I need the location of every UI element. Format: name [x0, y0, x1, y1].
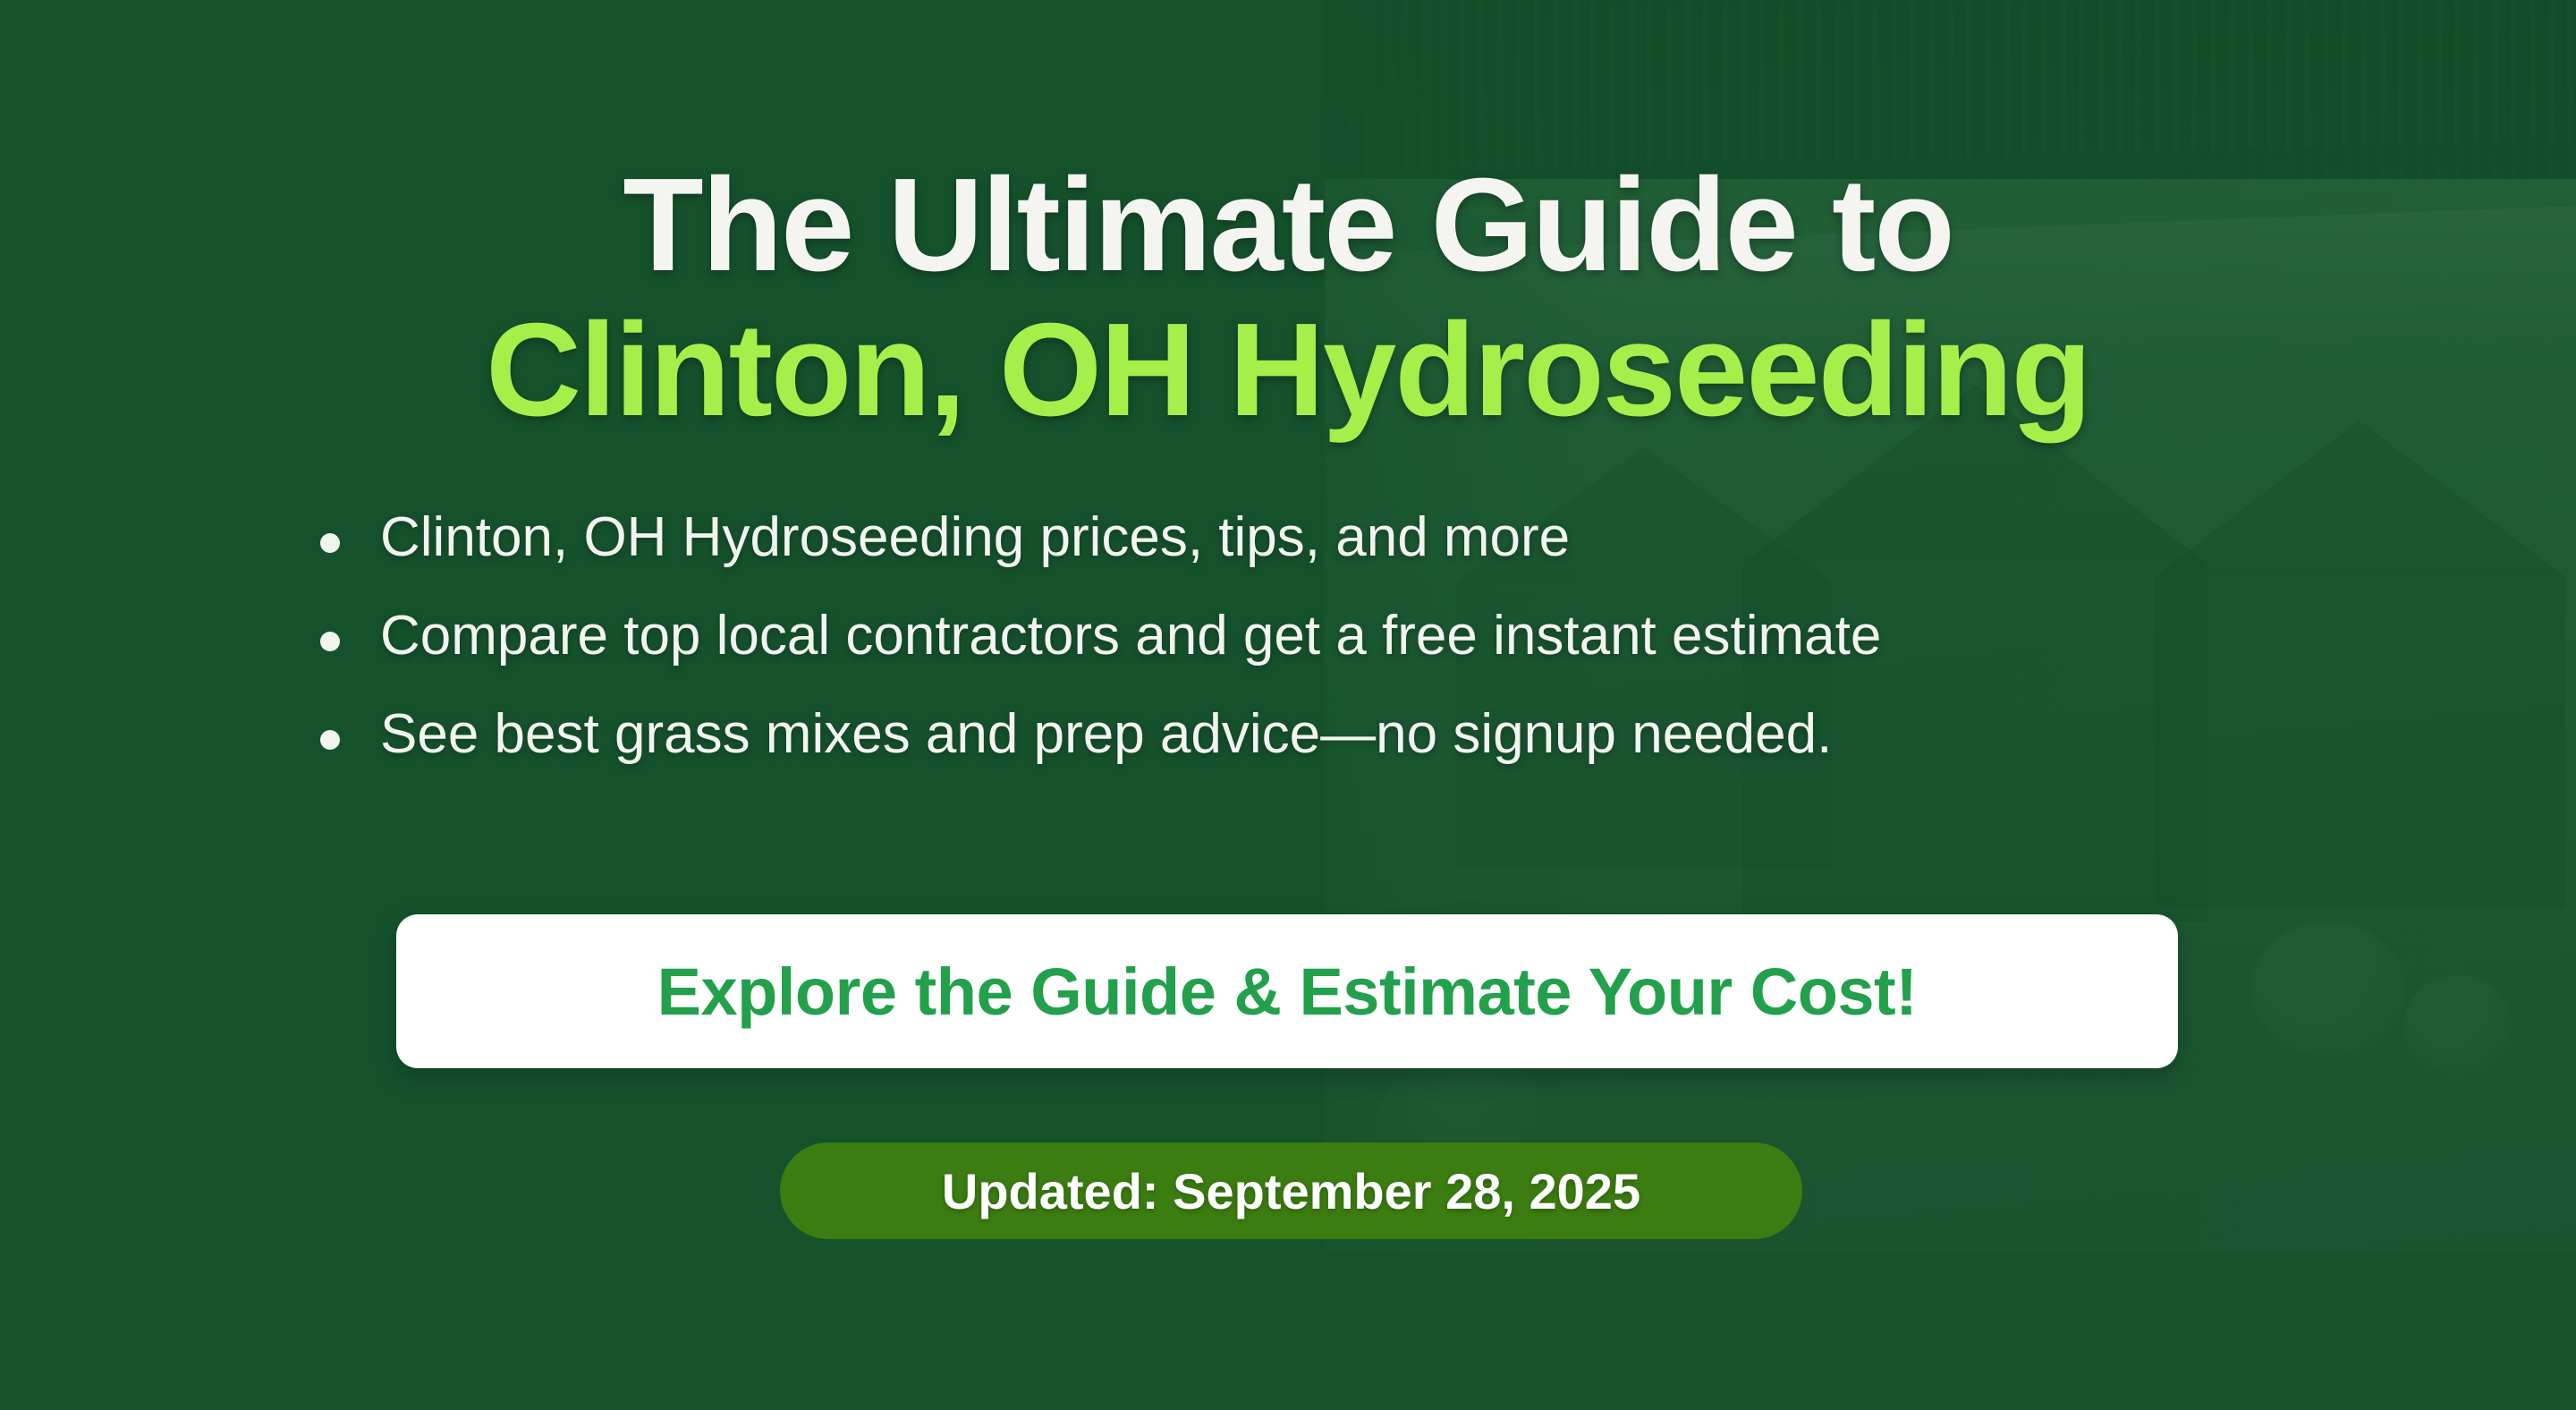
explore-guide-cta-button[interactable]: Explore the Guide & Estimate Your Cost! [396, 914, 2178, 1068]
feature-bullet-list: Clinton, OH Hydroseeding prices, tips, a… [0, 510, 2576, 805]
page-title-line-2: Clinton, OH Hydroseeding [0, 304, 2576, 437]
updated-date-badge: Updated: September 28, 2025 [780, 1142, 1802, 1239]
list-item: See best grass mixes and prep advice—no … [0, 707, 2576, 762]
list-item: Compare top local contractors and get a … [0, 608, 2576, 664]
list-item: Clinton, OH Hydroseeding prices, tips, a… [0, 510, 2576, 565]
updated-date-label: Updated: September 28, 2025 [942, 1162, 1640, 1220]
page-title-line-1: The Ultimate Guide to [0, 159, 2576, 292]
hero-banner: The Ultimate Guide to Clinton, OH Hydros… [0, 0, 2576, 1410]
hero-content: The Ultimate Guide to Clinton, OH Hydros… [0, 0, 2576, 1410]
hero-title-block: The Ultimate Guide to Clinton, OH Hydros… [0, 159, 2576, 437]
cta-button-label: Explore the Guide & Estimate Your Cost! [657, 954, 1918, 1030]
